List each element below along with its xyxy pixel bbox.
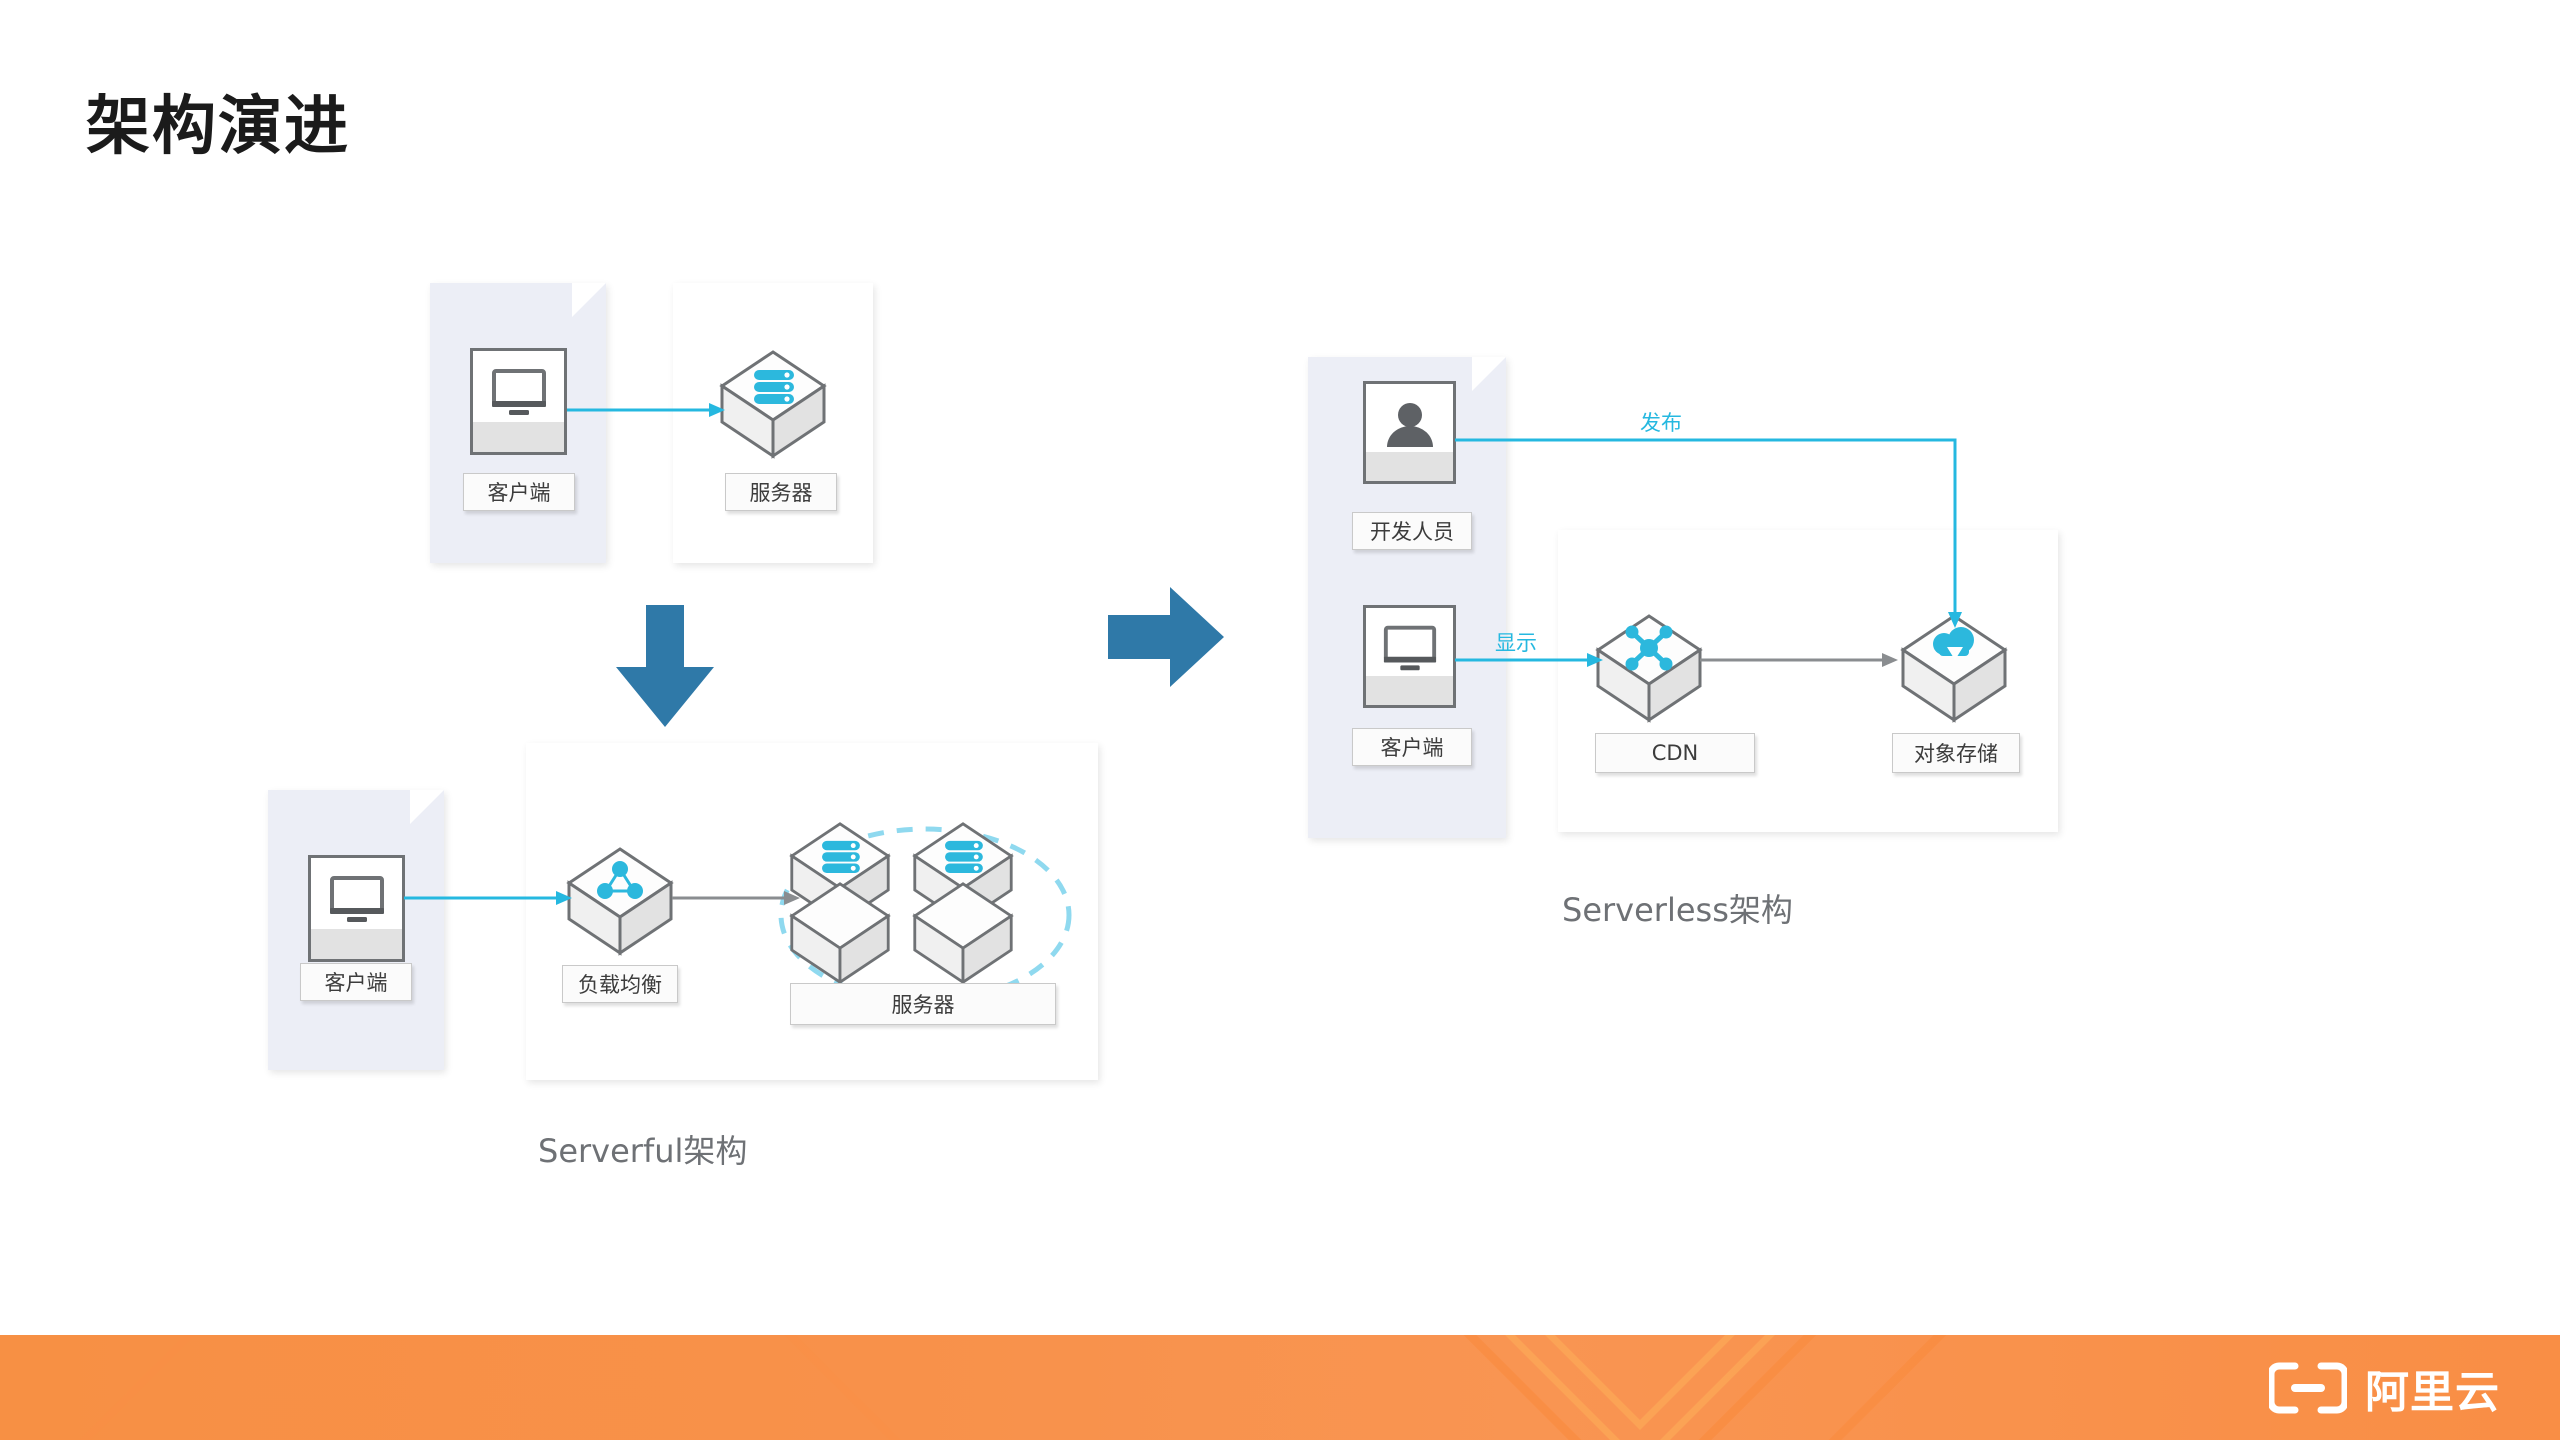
load-balancer-cube[interactable] — [565, 845, 675, 957]
person-icon — [1382, 400, 1438, 450]
panel-fold-corner-icon — [1472, 357, 1506, 391]
footer-chevron-pattern-icon — [1250, 1335, 1950, 1440]
edge-label-display: 显示 — [1495, 627, 1537, 657]
aliyun-logo-text: 阿里云 — [2365, 1356, 2500, 1420]
panel-fold-corner-icon — [410, 790, 444, 824]
server-cube-icon — [718, 348, 828, 460]
edge-client-to-server — [567, 400, 727, 420]
object-storage-label: 对象存储 — [1892, 733, 2020, 773]
card-base — [473, 422, 564, 452]
load-balancer-icon — [565, 845, 675, 957]
server-cube-icon — [911, 880, 1015, 986]
server-monolith-label: 服务器 — [725, 473, 837, 511]
monitor-icon — [1381, 624, 1439, 674]
client-serverful-card[interactable] — [308, 855, 405, 962]
edge-cdn-to-oss — [1700, 650, 1900, 670]
client-serverless-label: 客户端 — [1352, 728, 1472, 766]
aliyun-logo: 阿里云 — [2269, 1356, 2500, 1420]
load-balancer-label: 负载均衡 — [562, 965, 678, 1003]
client-monolith-label: 客户端 — [463, 473, 575, 511]
edge-client-to-lb — [404, 888, 574, 908]
edge-developer-to-oss — [1455, 430, 1975, 640]
cdn-label: CDN — [1595, 733, 1755, 773]
flow-arrow-down — [610, 605, 720, 735]
aliyun-logo-icon — [2269, 1362, 2347, 1414]
card-base — [1366, 676, 1453, 705]
developer-label: 开发人员 — [1352, 512, 1472, 550]
monitor-icon — [489, 368, 549, 418]
server-cube-monolith[interactable] — [718, 348, 828, 460]
slide-canvas: 架构演进 客户端 — [0, 0, 2560, 1440]
panel-fold-corner-icon — [572, 283, 606, 317]
server-cube-cluster-4[interactable] — [911, 880, 1015, 986]
client-monitor-card[interactable] — [470, 348, 567, 455]
panel-fold-corner-icon — [1064, 743, 1098, 777]
panel-fold-corner-icon — [839, 283, 873, 317]
edge-lb-to-cluster — [672, 888, 802, 908]
monitor-icon — [327, 875, 387, 925]
client-serverful-label: 客户端 — [300, 963, 412, 1001]
flow-arrow-right — [1108, 585, 1228, 695]
panel-fold-corner-icon — [2024, 530, 2058, 564]
server-cube-icon — [788, 880, 892, 986]
footer-bar: 阿里云 — [0, 1335, 2560, 1440]
card-base — [1366, 452, 1453, 481]
developer-card[interactable] — [1363, 381, 1456, 484]
footer-chevron-pattern-left-icon — [80, 1335, 980, 1440]
edge-label-publish: 发布 — [1640, 407, 1682, 437]
caption-serverful: Serverful架构 — [538, 1126, 747, 1172]
page-title: 架构演进 — [86, 75, 350, 167]
server-cluster-label: 服务器 — [790, 983, 1056, 1025]
server-cube-cluster-3[interactable] — [788, 880, 892, 986]
caption-serverless: Serverless架构 — [1562, 885, 1793, 931]
card-base — [311, 929, 402, 959]
client-serverless-card[interactable] — [1363, 605, 1456, 708]
